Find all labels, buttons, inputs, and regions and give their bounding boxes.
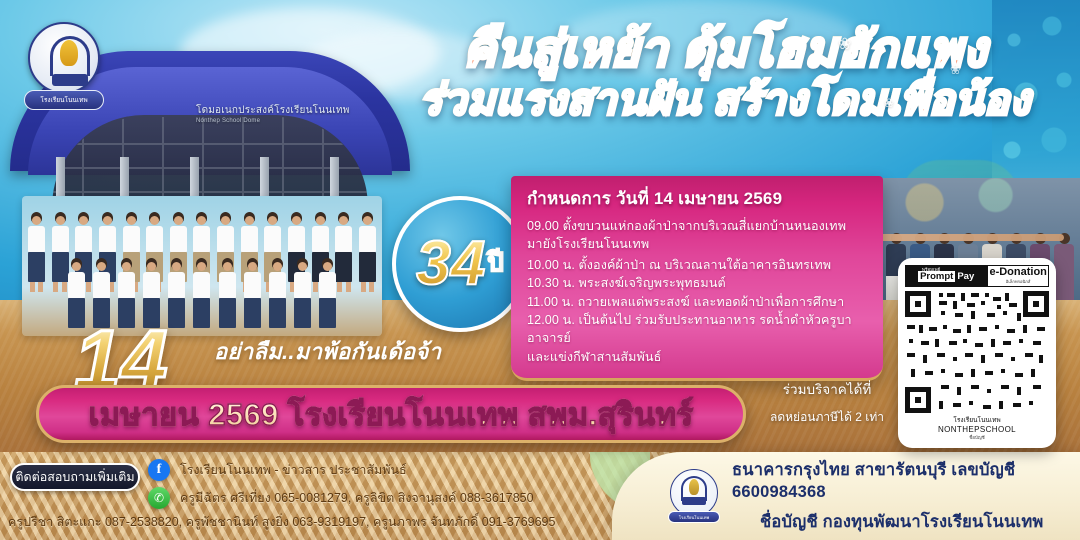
logo-base-icon (682, 497, 706, 505)
donation-heading: ร่วมบริจาคได้ที่ (752, 378, 902, 400)
dome-caption-subtext: Nonthep School Dome (196, 118, 350, 124)
butterfly-icon: ❀ (838, 34, 851, 54)
logo-base-icon (52, 74, 88, 86)
qr-account-name-en: NONTHEPSCHOOL (905, 425, 1049, 434)
promptpay-logo: พร้อมเพย์ Prompt Pay (906, 266, 988, 286)
phone-icon[interactable]: ✆ (148, 487, 170, 509)
butterfly-icon: ❀ (884, 96, 894, 110)
student-figure (244, 258, 261, 328)
dome-caption-text: โดมอเนกประสงค์โรงเรียนโนนเทพ (196, 105, 350, 116)
student-figure (269, 258, 286, 328)
anniversary-badge: 34 ปี (392, 196, 528, 332)
donation-tax-note: ลดหย่อนภาษีได้ 2 เท่า (752, 408, 902, 427)
schedule-item: และแข่งกีฬาสานสัมพันธ์ (527, 348, 869, 366)
edonation-logo: e-Donation อิเล็กทรอนิกส์ (988, 266, 1048, 286)
bank-account-line-2: ชื่อบัญชี กองทุนพัฒนาโรงเรียนโนนเทพ (732, 509, 1080, 535)
joined-hands (874, 234, 1064, 241)
facebook-page-name: โรงเรียนโนนเทพ - ข่าวสาร ประชาสัมพันธ์ (180, 460, 407, 480)
student-figure (359, 212, 376, 292)
qr-account-name: โรงเรียนโนนเทพ NONTHEPSCHOOL ชื่อบัญชี (905, 415, 1049, 441)
schedule-item: 10.30 น. พระสงฆ์เจริญพระพุทธมนต์ (527, 274, 869, 292)
edonation-sublabel: อิเล็กทรอนิกส์ (1006, 278, 1031, 285)
qr-header: พร้อมเพย์ Prompt Pay e-Donation อิเล็กทร… (905, 265, 1049, 287)
schedule-panel: กำหนดการ วันที่ 14 เมษายน 2569 09.00 ตั้… (511, 176, 883, 381)
promptpay-label-b: Pay (955, 271, 976, 282)
bank-logo-ribbon-text: โรงเรียนโนนเทพ (679, 514, 709, 521)
schedule-item: มายังโรงเรียนโนนเทพ (527, 235, 869, 253)
event-date-text: เมษายน 2569 โรงเรียนโนนเทพ สพม.สุรินทร์ (89, 389, 694, 439)
headline-line-2: ร่วมแรงสานฝัน สร้างโดมเพื่อน้อง (380, 79, 1070, 121)
bank-account-panel: โรงเรียนโนนเทพ ธนาคารกรุงไทย สาขารัตนบุร… (612, 452, 1080, 540)
school-logo-circle (28, 22, 100, 94)
student-figure (193, 258, 210, 328)
schedule-item: 09.00 ตั้งขบวนแห่กองผ้าป่าจากบริเวณสี่แย… (527, 217, 869, 235)
qr-account-name-sub: ชื่อบัญชี (905, 434, 1049, 441)
qr-account-name-thai: โรงเรียนโนนเทพ (905, 415, 1049, 425)
anniversary-number: 34 (416, 233, 485, 295)
poster-canvas: โดมอเนกประสงค์โรงเรียนโนนเทพ Nonthep Sch… (0, 0, 1080, 540)
bank-panel-school-logo: โรงเรียนโนนเทพ (670, 469, 718, 523)
bank-details: ธนาคารกรุงไทย สาขารัตนบุรี เลขบัญชี 6600… (732, 457, 1080, 535)
school-logo-ribbon-text: โรงเรียนโนนเทพ (40, 95, 87, 105)
facebook-icon[interactable]: f (148, 459, 170, 481)
phone-contacts-line-2: ครูปรีชา สิตะแกะ 087-2538820, ครูพัชชานิ… (8, 512, 555, 532)
headline-line-1: คืนสู่เหย้า ตุ้มโฮมฮักแพง (380, 26, 1070, 75)
schedule-item: 11.00 น. ถวายเพลแด่พระสงฆ์ และทอดผ้าป่าเ… (527, 293, 869, 311)
logo-flame-icon (60, 40, 78, 66)
dome-truss-grid (52, 117, 368, 207)
donation-qr-card[interactable]: พร้อมเพย์ Prompt Pay e-Donation อิเล็กทร… (898, 258, 1056, 448)
school-logo-ribbon: โรงเรียนโนนเทพ (24, 90, 104, 110)
phone-contacts-line-1: ครูมีฉัตร ศรีเที่ยง 065-0081279, ครูลิขิ… (180, 488, 534, 508)
school-logo-emblem (46, 34, 94, 86)
schedule-title: กำหนดการ วันที่ 14 เมษายน 2569 (527, 185, 869, 212)
student-figure (168, 258, 185, 328)
student-figure (319, 258, 336, 328)
edonation-label: e-Donation (989, 267, 1046, 278)
logo-flame-icon (689, 479, 699, 495)
phone-contact-row: ✆ ครูมีฉัตร ศรีเที่ยง 065-0081279, ครูลิ… (148, 487, 534, 509)
student-figure (52, 212, 69, 292)
bank-account-line-1: ธนาคารกรุงไทย สาขารัตนบุรี เลขบัญชี 6600… (732, 457, 1080, 502)
schedule-list: 09.00 ตั้งขบวนแห่กองผ้าป่าจากบริเวณสี่แย… (527, 217, 869, 366)
dome-caption: โดมอเนกประสงค์โรงเรียนโนนเทพ Nonthep Sch… (196, 103, 350, 124)
student-figure (219, 258, 236, 328)
student-figure (294, 258, 311, 328)
anniversary-unit: ปี (487, 242, 504, 283)
bank-logo-ribbon: โรงเรียนโนนเทพ (668, 511, 720, 523)
event-tagline: อย่าลืม..มาพ้อกันเด้อจ้า (214, 334, 441, 369)
student-figure (28, 212, 45, 292)
headline: คืนสู่เหย้า ตุ้มโฮมฮักแพง ร่วมแรงสานฝัน … (380, 26, 1070, 121)
facebook-contact-row[interactable]: f โรงเรียนโนนเทพ - ข่าวสาร ประชาสัมพันธ์ (148, 459, 407, 481)
promptpay-thai-label: พร้อมเพย์ (922, 266, 940, 273)
donation-callout: ร่วมบริจาคได้ที่ ลดหย่อนภาษีได้ 2 เท่า (752, 378, 902, 427)
event-date-bar: เมษายน 2569 โรงเรียนโนนเทพ สพม.สุรินทร์ (36, 385, 746, 443)
student-figure (335, 212, 352, 292)
school-logo: โรงเรียนโนนเทพ (24, 22, 104, 118)
butterfly-icon: ❀ (950, 62, 961, 78)
schedule-item: 12.00 น. เป็นต้นไป ร่วมรับประทานอาหาร รด… (527, 311, 869, 348)
contact-label-pill: ติดต่อสอบถามเพิ่มเติม (10, 463, 140, 491)
contact-label-text: ติดต่อสอบถามเพิ่มเติม (15, 467, 134, 487)
qr-code-image[interactable] (905, 291, 1049, 413)
schedule-item: 10.00 น. ตั้งองค์ผ้าป่า ณ บริเวณลานใต้อา… (527, 256, 869, 274)
person-figure (1054, 233, 1074, 300)
